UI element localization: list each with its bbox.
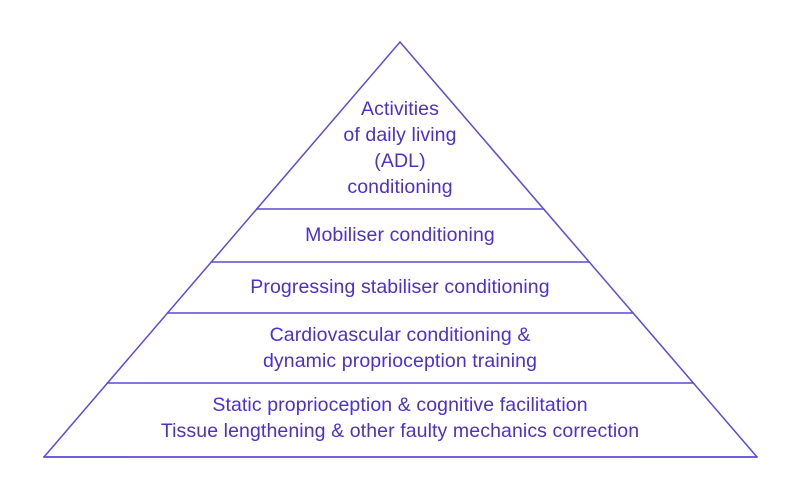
pyramid-right-edge bbox=[400, 42, 757, 457]
pyramid-diagram: Activities of daily living (ADL) conditi… bbox=[0, 0, 800, 500]
pyramid-left-edge bbox=[44, 42, 400, 457]
pyramid-outline-svg bbox=[0, 0, 800, 500]
